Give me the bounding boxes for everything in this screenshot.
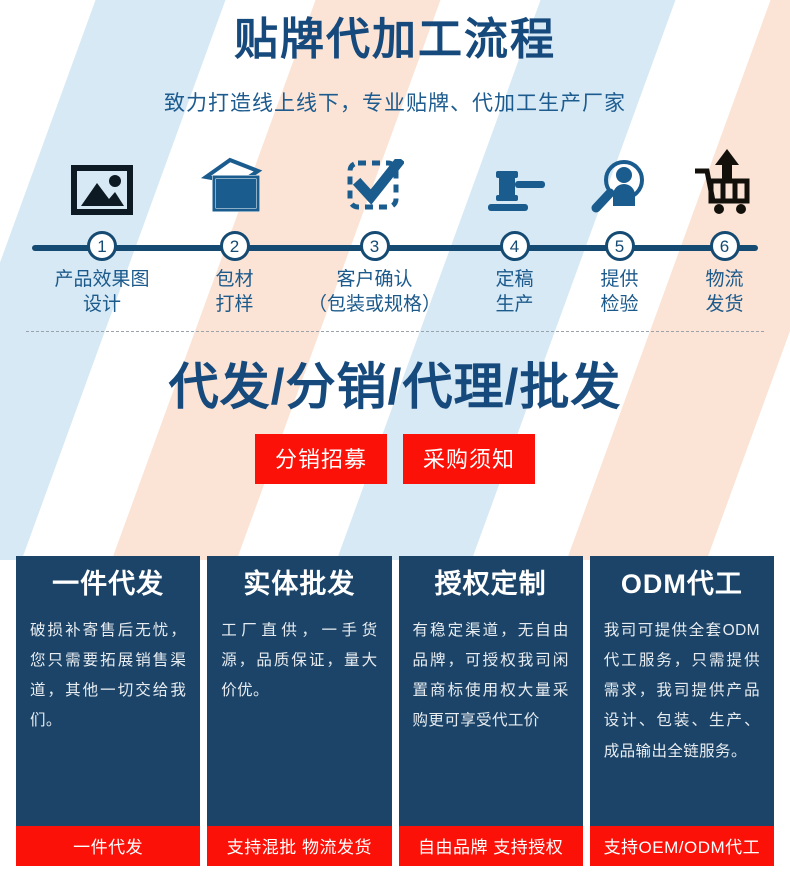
- card-title: 实体批发: [221, 570, 377, 600]
- flow-step-label: 包材 打样: [215, 268, 253, 317]
- mid-title: 代发/分销/代理/批发: [0, 362, 790, 412]
- card-title: 一件代发: [30, 570, 186, 600]
- flow-step-number: 5: [605, 231, 635, 261]
- card-tag-button[interactable]: 一件代发: [16, 826, 200, 866]
- card-body: ODM代工我司可提供全套ODM代工服务，只需提供需求，我司提供产品设计、包装、生…: [590, 556, 774, 826]
- card-description: 破损补寄售后无忧，您只需要拓展销售渠道，其他一切交给我们。: [30, 616, 186, 737]
- card-tag-button[interactable]: 支持OEM/ODM代工: [590, 826, 774, 866]
- mid-banner: 代发/分销/代理/批发 分销招募采购须知: [0, 332, 790, 484]
- flow-step-number: 2: [220, 231, 250, 261]
- service-card-row: 一件代发破损补寄售后无忧，您只需要拓展销售渠道，其他一切交给我们。一件代发实体批…: [0, 556, 790, 866]
- card-tag-button[interactable]: 自由品牌 支持授权: [399, 826, 583, 866]
- flow-step-number: 4: [500, 231, 530, 261]
- card-body: 实体批发工厂直供，一手货源，品质保证，量大价优。: [207, 556, 391, 826]
- flow-step-1[interactable]: 1产品效果图 设计: [22, 143, 182, 317]
- magnifier-person-icon: [591, 143, 649, 215]
- page-subtitle: 致力打造线上线下，专业贴牌、代加工生产厂家: [0, 62, 790, 117]
- process-flow: 1产品效果图 设计2包材 打样3客户确认 （包装或规格）4定稿 生产5提供 检验…: [0, 143, 790, 323]
- flow-step-label: 客户确认 （包装或规格）: [308, 268, 441, 317]
- mid-button-2[interactable]: 采购须知: [403, 434, 535, 484]
- card-tag-button[interactable]: 支持混批 物流发货: [207, 826, 391, 866]
- flow-step-4[interactable]: 4定稿 生产: [462, 143, 567, 317]
- flow-step-5[interactable]: 5提供 检验: [567, 143, 672, 317]
- card-description: 有稳定渠道，无自由品牌，可授权我司闲置商标使用权大量采购更可享受代工价: [413, 616, 569, 737]
- card-body: 一件代发破损补寄售后无忧，您只需要拓展销售渠道，其他一切交给我们。: [16, 556, 200, 826]
- card-description: 工厂直供，一手货源，品质保证，量大价优。: [221, 616, 377, 707]
- card-title: ODM代工: [604, 570, 760, 600]
- checkmark-box-icon: [346, 143, 404, 215]
- flow-steps: 1产品效果图 设计2包材 打样3客户确认 （包装或规格）4定稿 生产5提供 检验…: [0, 143, 790, 323]
- card-body: 授权定制有稳定渠道，无自由品牌，可授权我司闲置商标使用权大量采购更可享受代工价: [399, 556, 583, 826]
- mid-button-group: 分销招募采购须知: [0, 434, 790, 484]
- shopping-cart-up-arrow-icon: [693, 143, 757, 215]
- flow-step-6[interactable]: 6物流 发货: [672, 143, 777, 317]
- packaging-photos-icon: [200, 143, 270, 215]
- service-card[interactable]: ODM代工我司可提供全套ODM代工服务，只需提供需求，我司提供产品设计、包装、生…: [590, 556, 774, 866]
- service-card[interactable]: 实体批发工厂直供，一手货源，品质保证，量大价优。支持混批 物流发货: [207, 556, 391, 866]
- page-title: 贴牌代加工流程: [0, 0, 790, 62]
- flow-step-label: 定稿 生产: [495, 268, 533, 317]
- service-card[interactable]: 授权定制有稳定渠道，无自由品牌，可授权我司闲置商标使用权大量采购更可享受代工价自…: [399, 556, 583, 866]
- flow-step-label: 提供 检验: [600, 268, 638, 317]
- flow-step-3[interactable]: 3客户确认 （包装或规格）: [287, 143, 462, 317]
- gavel-hammer-icon: [482, 143, 548, 215]
- service-card[interactable]: 一件代发破损补寄售后无忧，您只需要拓展销售渠道，其他一切交给我们。一件代发: [16, 556, 200, 866]
- card-title: 授权定制: [413, 570, 569, 600]
- image-picture-icon: [71, 143, 133, 215]
- page-root: 贴牌代加工流程 致力打造线上线下，专业贴牌、代加工生产厂家 1产品效果图 设计2…: [0, 0, 790, 891]
- flow-step-number: 6: [710, 231, 740, 261]
- flow-step-label: 产品效果图 设计: [54, 268, 149, 317]
- mid-button-1[interactable]: 分销招募: [255, 434, 387, 484]
- flow-step-label: 物流 发货: [705, 268, 743, 317]
- flow-step-number: 3: [360, 231, 390, 261]
- card-description: 我司可提供全套ODM代工服务，只需提供需求，我司提供产品设计、包装、生产、成品输…: [604, 616, 760, 767]
- flow-step-2[interactable]: 2包材 打样: [182, 143, 287, 317]
- flow-step-number: 1: [87, 231, 117, 261]
